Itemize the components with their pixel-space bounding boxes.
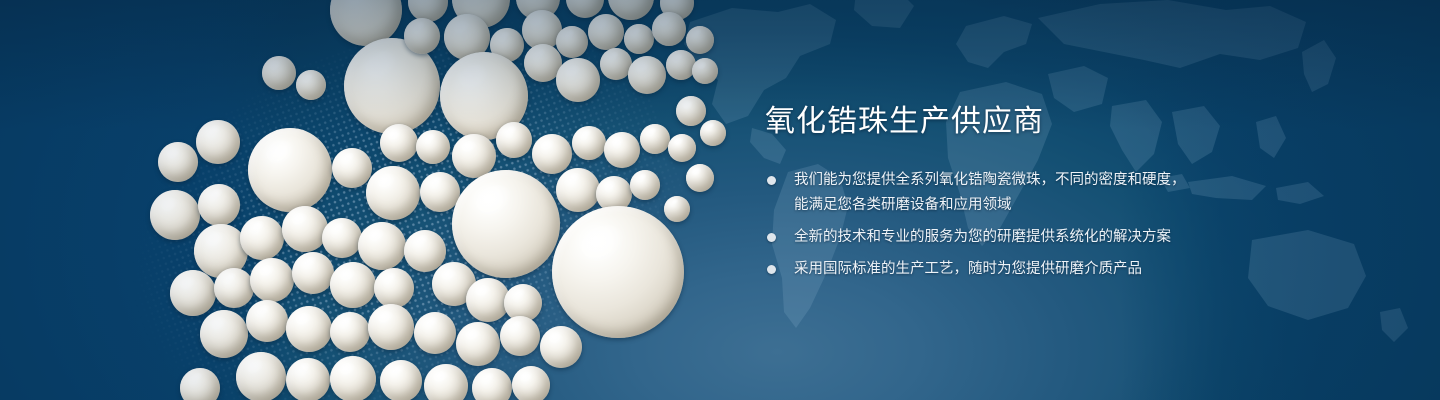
banner-text-block: 氧化锆珠生产供应商 我们能为您提供全系列氧化锆陶瓷微珠，不同的密度和硬度， 能满… [765,104,1365,289]
bullet-dot-icon [767,176,776,185]
bullet-item: 我们能为您提供全系列氧化锆陶瓷微珠，不同的密度和硬度， 能满足您各类研磨设备和应… [765,168,1365,218]
bullet-dot-icon [767,233,776,242]
bullet-line-1: 全新的技术和专业的服务为您的研磨提供系统化的解决方案 [794,229,1171,245]
bullet-dot-icon [767,265,776,274]
bullet-line-2: 能满足您各类研磨设备和应用领域 [794,193,1365,218]
bullet-item: 全新的技术和专业的服务为您的研磨提供系统化的解决方案 [765,225,1365,250]
banner-title: 氧化锆珠生产供应商 [765,104,1365,140]
bullet-line-1: 我们能为您提供全系列氧化锆陶瓷微珠，不同的密度和硬度， [794,172,1186,188]
bullet-line-1: 采用国际标准的生产工艺，随时为您提供研磨介质产品 [794,261,1142,277]
hero-banner: 氧化锆珠生产供应商 我们能为您提供全系列氧化锆陶瓷微珠，不同的密度和硬度， 能满… [0,0,1440,400]
banner-bullet-list: 我们能为您提供全系列氧化锆陶瓷微珠，不同的密度和硬度， 能满足您各类研磨设备和应… [765,168,1365,282]
bullet-item: 采用国际标准的生产工艺，随时为您提供研磨介质产品 [765,257,1365,282]
